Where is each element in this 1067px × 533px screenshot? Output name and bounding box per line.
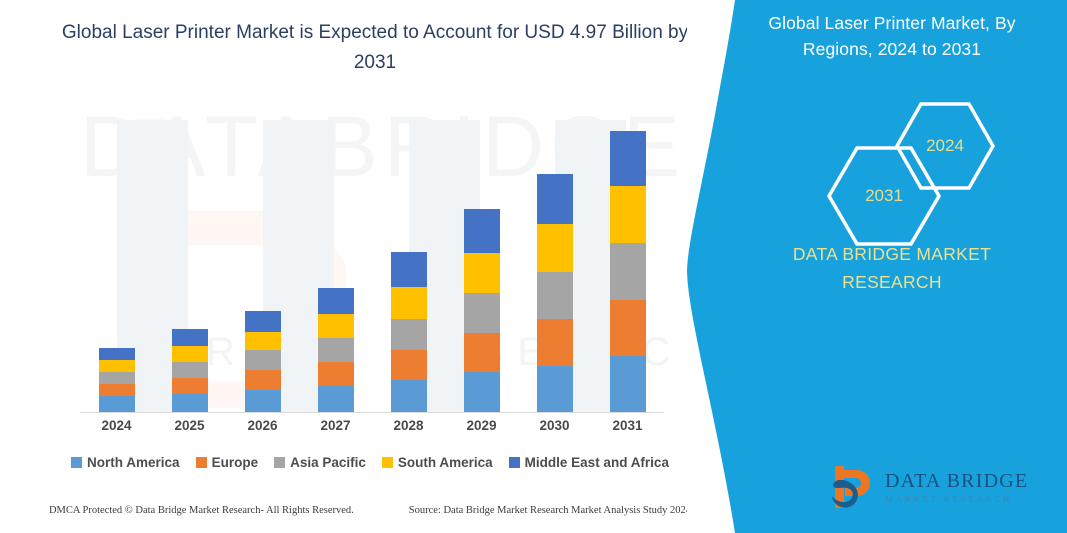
bar-segment[interactable] xyxy=(172,362,208,378)
plot-area xyxy=(80,120,664,413)
bar-segment[interactable] xyxy=(318,362,354,386)
x-axis-label: 2030 xyxy=(518,418,591,433)
panel-title: Global Laser Printer Market, By Regions,… xyxy=(737,10,1047,62)
bar-segment[interactable] xyxy=(245,390,281,412)
bar-segment[interactable] xyxy=(99,348,135,360)
x-axis-label: 2025 xyxy=(153,418,226,433)
bar-segment[interactable] xyxy=(99,372,135,384)
chart-legend: North AmericaEuropeAsia PacificSouth Ame… xyxy=(0,455,740,470)
bar-segment[interactable] xyxy=(464,209,500,253)
footer: DMCA Protected © Data Bridge Market Rese… xyxy=(0,505,740,516)
x-axis-label: 2024 xyxy=(80,418,153,433)
stacked-bar[interactable] xyxy=(245,311,281,412)
bar-segment[interactable] xyxy=(610,300,646,356)
bar-column[interactable] xyxy=(226,120,299,412)
logo-line-2: MARKET RESEARCH xyxy=(885,495,1028,504)
databridge-logo-text: DATA BRIDGE MARKET RESEARCH xyxy=(885,471,1028,504)
bar-segment[interactable] xyxy=(99,396,135,412)
footer-copyright: DMCA Protected © Data Bridge Market Rese… xyxy=(49,505,354,516)
x-axis-label: 2031 xyxy=(591,418,664,433)
stacked-bar[interactable] xyxy=(464,209,500,412)
bar-segment[interactable] xyxy=(391,252,427,287)
x-axis-label: 2028 xyxy=(372,418,445,433)
stacked-bar[interactable] xyxy=(318,288,354,412)
bar-segment[interactable] xyxy=(537,366,573,412)
bar-segment[interactable] xyxy=(537,224,573,272)
legend-swatch xyxy=(274,457,285,468)
bar-segment[interactable] xyxy=(464,333,500,372)
stacked-bar[interactable] xyxy=(172,329,208,412)
legend-swatch xyxy=(509,457,520,468)
brand-line-1: DATA BRIDGE MARKET xyxy=(747,240,1037,268)
bar-segment[interactable] xyxy=(391,380,427,412)
bar-column[interactable] xyxy=(518,120,591,412)
bar-segment[interactable] xyxy=(99,360,135,372)
bar-column[interactable] xyxy=(445,120,518,412)
bar-segment[interactable] xyxy=(245,311,281,332)
bar-segment[interactable] xyxy=(391,287,427,319)
bar-segment[interactable] xyxy=(245,332,281,350)
legend-swatch xyxy=(71,457,82,468)
brand-name: DATA BRIDGE MARKET RESEARCH xyxy=(747,240,1037,296)
bar-segment[interactable] xyxy=(610,186,646,243)
hexagon-group: 2024 2031 xyxy=(783,100,1033,230)
bar-group xyxy=(80,120,664,412)
footer-source: Source: Data Bridge Market Research Mark… xyxy=(409,505,691,516)
hexagon-2024-label: 2024 xyxy=(926,136,964,156)
legend-label: North America xyxy=(87,455,180,470)
bar-segment[interactable] xyxy=(464,372,500,412)
x-axis-labels: 20242025202620272028202920302031 xyxy=(80,418,664,433)
databridge-logo: DATA BRIDGE MARKET RESEARCH xyxy=(827,458,1047,516)
bar-segment[interactable] xyxy=(172,346,208,362)
legend-swatch xyxy=(196,457,207,468)
chart-title: Global Laser Printer Market is Expected … xyxy=(55,18,695,78)
bar-column[interactable] xyxy=(372,120,445,412)
brand-line-2: RESEARCH xyxy=(747,268,1037,296)
bar-segment[interactable] xyxy=(610,356,646,412)
bar-segment[interactable] xyxy=(610,243,646,300)
bar-column[interactable] xyxy=(591,120,664,412)
legend-label: Europe xyxy=(212,455,259,470)
bar-segment[interactable] xyxy=(610,131,646,186)
chart-panel: DATABRIDGE MARKET RESEARCH Global Laser … xyxy=(0,0,740,533)
legend-label: Middle East and Africa xyxy=(525,455,669,470)
hexagon-2031-label: 2031 xyxy=(865,186,903,206)
bar-segment[interactable] xyxy=(537,319,573,366)
bar-segment[interactable] xyxy=(245,350,281,370)
databridge-b-logo-icon xyxy=(827,462,877,512)
bar-segment[interactable] xyxy=(537,272,573,319)
bar-segment[interactable] xyxy=(537,174,573,224)
bar-segment[interactable] xyxy=(318,386,354,412)
infographic-root: DATABRIDGE MARKET RESEARCH Global Laser … xyxy=(0,0,1067,533)
bar-segment[interactable] xyxy=(245,370,281,390)
bar-column[interactable] xyxy=(153,120,226,412)
stacked-bar[interactable] xyxy=(610,131,646,412)
bar-column[interactable] xyxy=(80,120,153,412)
legend-item[interactable]: Asia Pacific xyxy=(274,455,366,470)
x-axis-label: 2026 xyxy=(226,418,299,433)
bar-segment[interactable] xyxy=(391,350,427,380)
legend-item[interactable]: Europe xyxy=(196,455,259,470)
legend-label: Asia Pacific xyxy=(290,455,366,470)
bar-segment[interactable] xyxy=(99,384,135,396)
legend-label: South America xyxy=(398,455,493,470)
x-axis-line xyxy=(80,412,664,413)
bar-segment[interactable] xyxy=(172,378,208,394)
x-axis-label: 2027 xyxy=(299,418,372,433)
bar-column[interactable] xyxy=(299,120,372,412)
stacked-bar[interactable] xyxy=(537,174,573,412)
bar-segment[interactable] xyxy=(318,314,354,338)
logo-line-1: DATA BRIDGE xyxy=(885,471,1028,491)
bar-segment[interactable] xyxy=(318,338,354,362)
legend-item[interactable]: South America xyxy=(382,455,493,470)
bar-segment[interactable] xyxy=(172,394,208,412)
bar-segment[interactable] xyxy=(464,293,500,333)
bar-segment[interactable] xyxy=(318,288,354,314)
stacked-bar[interactable] xyxy=(99,348,135,412)
hexagon-2031: 2031 xyxy=(825,144,943,248)
stacked-bar[interactable] xyxy=(391,252,427,412)
bar-segment[interactable] xyxy=(464,253,500,293)
legend-swatch xyxy=(382,457,393,468)
side-panel: Global Laser Printer Market, By Regions,… xyxy=(687,0,1067,533)
legend-item[interactable]: Middle East and Africa xyxy=(509,455,669,470)
x-axis-label: 2029 xyxy=(445,418,518,433)
bar-segment[interactable] xyxy=(391,319,427,350)
legend-item[interactable]: North America xyxy=(71,455,180,470)
bar-segment[interactable] xyxy=(172,329,208,346)
